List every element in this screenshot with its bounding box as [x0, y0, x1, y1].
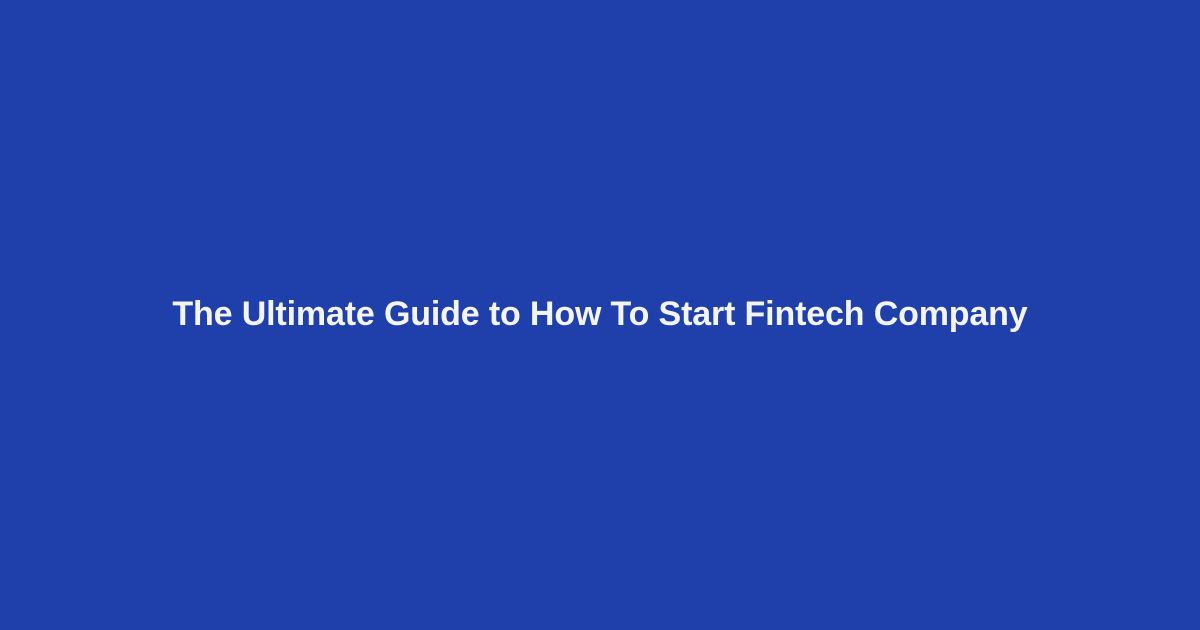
- card-content: The Ultimate Guide to How To Start Finte…: [80, 293, 1120, 337]
- social-share-card: The Ultimate Guide to How To Start Finte…: [0, 0, 1200, 630]
- page-title: The Ultimate Guide to How To Start Finte…: [172, 293, 1027, 337]
